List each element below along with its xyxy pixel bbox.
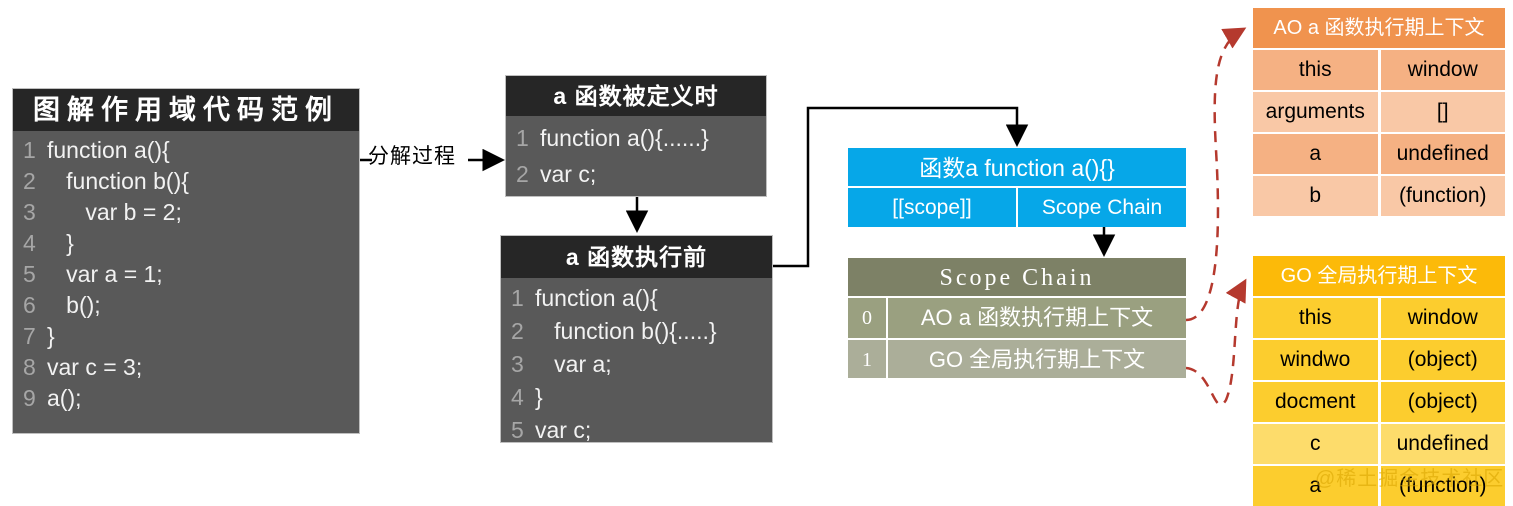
- code-line: 2 function b(){: [13, 166, 359, 197]
- ao-key: arguments: [1253, 92, 1378, 132]
- line-number: 8: [13, 352, 43, 383]
- table-row: c undefined: [1253, 424, 1505, 464]
- connector-label-decompose: 分解过程: [368, 140, 456, 170]
- go-key: c: [1253, 424, 1378, 464]
- line-number: 6: [13, 290, 43, 321]
- ao-context-table: AO a 函数执行期上下文 this window arguments [] a…: [1253, 8, 1505, 216]
- code-line: 6 b();: [13, 290, 359, 321]
- code-line: 9a();: [13, 383, 359, 414]
- code-line: 2 function b(){.....}: [501, 315, 772, 348]
- line-code: a();: [43, 383, 82, 414]
- line-number: 9: [13, 383, 43, 414]
- code-line: 1function a(){: [13, 135, 359, 166]
- scope-chain-value: AO a 函数执行期上下文: [888, 298, 1186, 338]
- line-code: function a(){......}: [536, 120, 709, 156]
- line-number: 2: [13, 166, 43, 197]
- line-number: 1: [501, 282, 531, 315]
- function-scope-chain-cell: Scope Chain: [1018, 188, 1186, 227]
- ao-value: undefined: [1381, 134, 1506, 174]
- scope-chain-header: Scope Chain: [848, 258, 1186, 298]
- function-object-title: 函数a function a(){}: [848, 148, 1186, 188]
- go-key: this: [1253, 298, 1378, 338]
- table-row: this window: [1253, 50, 1505, 90]
- ao-key: a: [1253, 134, 1378, 174]
- line-code: b();: [43, 290, 101, 321]
- table-row: docment (object): [1253, 382, 1505, 422]
- code-line: 5var c;: [501, 414, 772, 447]
- line-number: 4: [13, 228, 43, 259]
- code-line: 1function a(){......}: [506, 120, 766, 156]
- code-line: 5 var a = 1;: [13, 259, 359, 290]
- line-code: var a;: [531, 348, 612, 381]
- line-number: 2: [506, 156, 536, 192]
- line-code: function a(){: [43, 135, 170, 166]
- function-object-cells: [[scope]] Scope Chain: [848, 188, 1186, 227]
- code-line: 2var c;: [506, 156, 766, 192]
- line-number: 7: [13, 321, 43, 352]
- function-scope-cell: [[scope]]: [848, 188, 1018, 227]
- line-number: 5: [13, 259, 43, 290]
- ao-key: b: [1253, 176, 1378, 216]
- code-panel-example: 图解作用域代码范例 1function a(){ 2 function b(){…: [12, 88, 360, 434]
- code-line: 3 var b = 2;: [13, 197, 359, 228]
- ao-value: window: [1381, 50, 1506, 90]
- code-line: 4 }: [13, 228, 359, 259]
- line-number: 2: [501, 315, 531, 348]
- go-context-header: GO 全局执行期上下文: [1253, 256, 1505, 296]
- code-line: 1function a(){: [501, 282, 772, 315]
- scope-chain-index: 1: [848, 340, 888, 378]
- line-code: function a(){: [531, 282, 658, 315]
- line-number: 4: [501, 381, 531, 414]
- table-row: b (function): [1253, 176, 1505, 216]
- go-key: windwo: [1253, 340, 1378, 380]
- go-value: window: [1381, 298, 1506, 338]
- line-code: }: [43, 321, 55, 352]
- table-row: this window: [1253, 298, 1505, 338]
- table-row: a undefined: [1253, 134, 1505, 174]
- line-number: 1: [506, 120, 536, 156]
- go-key: docment: [1253, 382, 1378, 422]
- code-line: 7}: [13, 321, 359, 352]
- ao-value: (function): [1381, 176, 1506, 216]
- code-panel-example-title: 图解作用域代码范例: [13, 89, 359, 131]
- go-value: (object): [1381, 382, 1506, 422]
- line-number: 5: [501, 414, 531, 447]
- code-panel-defined: a 函数被定义时 1function a(){......} 2var c;: [505, 75, 767, 197]
- table-row: arguments []: [1253, 92, 1505, 132]
- table-row: windwo (object): [1253, 340, 1505, 380]
- line-code: var c;: [536, 156, 596, 192]
- scope-chain-row: 1 GO 全局执行期上下文: [848, 338, 1186, 378]
- watermark: @稀土掘金技术社区: [1315, 462, 1504, 491]
- line-code: function b(){.....}: [531, 315, 717, 348]
- ao-context-header: AO a 函数执行期上下文: [1253, 8, 1505, 48]
- code-panel-defined-body: 1function a(){......} 2var c;: [506, 116, 766, 196]
- line-code: var b = 2;: [43, 197, 182, 228]
- code-line: 4}: [501, 381, 772, 414]
- line-code: var c = 3;: [43, 352, 142, 383]
- code-panel-example-body: 1function a(){ 2 function b(){ 3 var b =…: [13, 131, 359, 418]
- go-value: (object): [1381, 340, 1506, 380]
- scope-chain-row: 0 AO a 函数执行期上下文: [848, 298, 1186, 338]
- line-code: }: [531, 381, 543, 414]
- code-line: 3 var a;: [501, 348, 772, 381]
- line-number: 1: [13, 135, 43, 166]
- scope-chain-table: Scope Chain 0 AO a 函数执行期上下文 1 GO 全局执行期上下…: [848, 258, 1186, 382]
- line-number: 3: [501, 348, 531, 381]
- ao-value: []: [1381, 92, 1506, 132]
- ao-key: this: [1253, 50, 1378, 90]
- code-panel-before-execution-title: a 函数执行前: [501, 236, 772, 278]
- function-object-box: 函数a function a(){} [[scope]] Scope Chain: [848, 148, 1186, 227]
- line-code: var c;: [531, 414, 591, 447]
- code-line: 8var c = 3;: [13, 352, 359, 383]
- line-code: }: [43, 228, 74, 259]
- line-code: function b(){: [43, 166, 189, 197]
- go-value: undefined: [1381, 424, 1506, 464]
- scope-chain-value: GO 全局执行期上下文: [888, 340, 1186, 378]
- scope-chain-index: 0: [848, 298, 888, 338]
- code-panel-before-execution: a 函数执行前 1function a(){ 2 function b(){..…: [500, 235, 773, 443]
- code-panel-before-execution-body: 1function a(){ 2 function b(){.....} 3 v…: [501, 278, 772, 451]
- code-panel-defined-title: a 函数被定义时: [506, 76, 766, 116]
- line-number: 3: [13, 197, 43, 228]
- line-code: var a = 1;: [43, 259, 163, 290]
